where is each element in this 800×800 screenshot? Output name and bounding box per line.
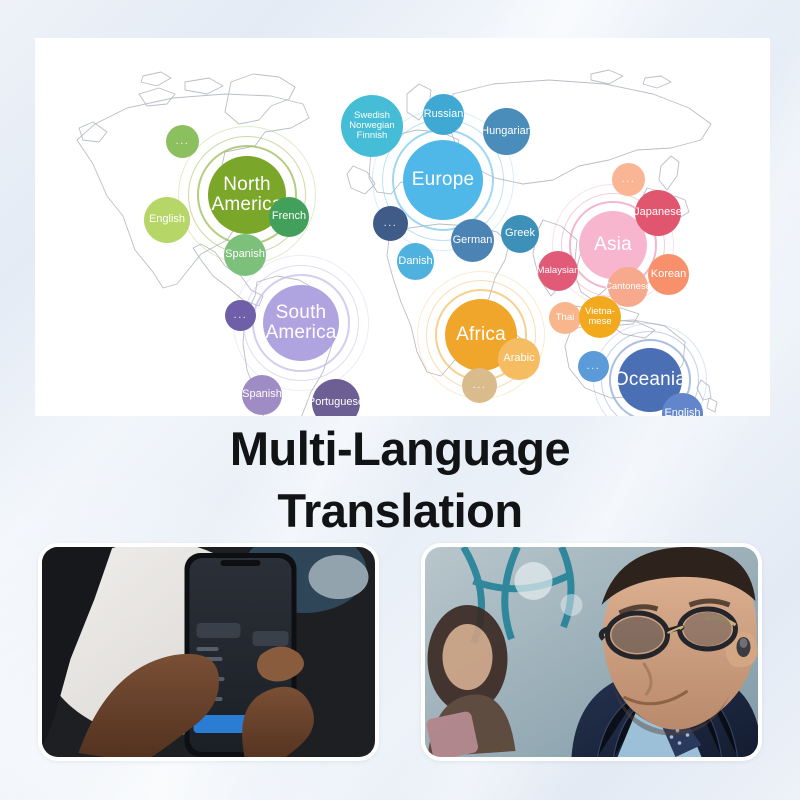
page-title-line-2: Translation: [0, 480, 800, 542]
language-bubble-japanese[interactable]: Japanese: [635, 190, 681, 236]
language-bubble-greek[interactable]: Greek: [501, 215, 539, 253]
businessman-earbud-image: [425, 547, 758, 757]
language-bubble-spanish[interactable]: Spanish: [242, 375, 282, 415]
language-bubble-layer: North America...EnglishFrenchSpanishSout…: [35, 38, 770, 416]
photo-phone-translation-app: [38, 543, 379, 761]
page-title: Multi-Language Translation: [0, 418, 800, 542]
cluster-bubble-south-america[interactable]: South America: [263, 285, 339, 361]
world-map-card: North America...EnglishFrenchSpanishSout…: [35, 38, 770, 416]
language-bubble-swedish-norwegian-finnish[interactable]: Swedish Norwegian Finnish: [341, 95, 403, 157]
language-bubble-danish[interactable]: Danish: [397, 243, 434, 280]
language-bubble-africa-more[interactable]: ...: [462, 368, 497, 403]
language-bubble-portuguese[interactable]: Portuguese: [312, 379, 360, 416]
language-bubble-french[interactable]: French: [269, 197, 309, 237]
phone-translation-app-image: [42, 547, 375, 757]
photo-row: [38, 543, 762, 761]
language-bubble-south-america-more[interactable]: ...: [225, 300, 256, 331]
language-bubble-oceania-more[interactable]: ...: [578, 351, 609, 382]
language-bubble-europe-more[interactable]: ...: [373, 206, 408, 241]
language-bubble-korean[interactable]: Korean: [648, 254, 689, 295]
language-bubble-arabic[interactable]: Arabic: [498, 338, 540, 380]
language-bubble-english[interactable]: English: [144, 197, 190, 243]
language-bubble-malaysian[interactable]: Malaysian: [538, 251, 578, 291]
cluster-bubble-europe[interactable]: Europe: [403, 140, 483, 220]
page-title-line-1: Multi-Language: [0, 418, 800, 480]
language-bubble-thai[interactable]: Thai: [549, 302, 581, 334]
language-bubble-north-america-more[interactable]: ...: [166, 125, 199, 158]
language-bubble-hungarian[interactable]: Hungarian: [483, 108, 530, 155]
language-bubble-vietna-mese[interactable]: Vietna- mese: [579, 296, 621, 338]
photo-businessman-earbud: [421, 543, 762, 761]
language-bubble-german[interactable]: German: [451, 219, 494, 262]
language-bubble-russian[interactable]: Russian: [423, 94, 464, 135]
language-bubble-asia-more[interactable]: ...: [612, 163, 645, 196]
